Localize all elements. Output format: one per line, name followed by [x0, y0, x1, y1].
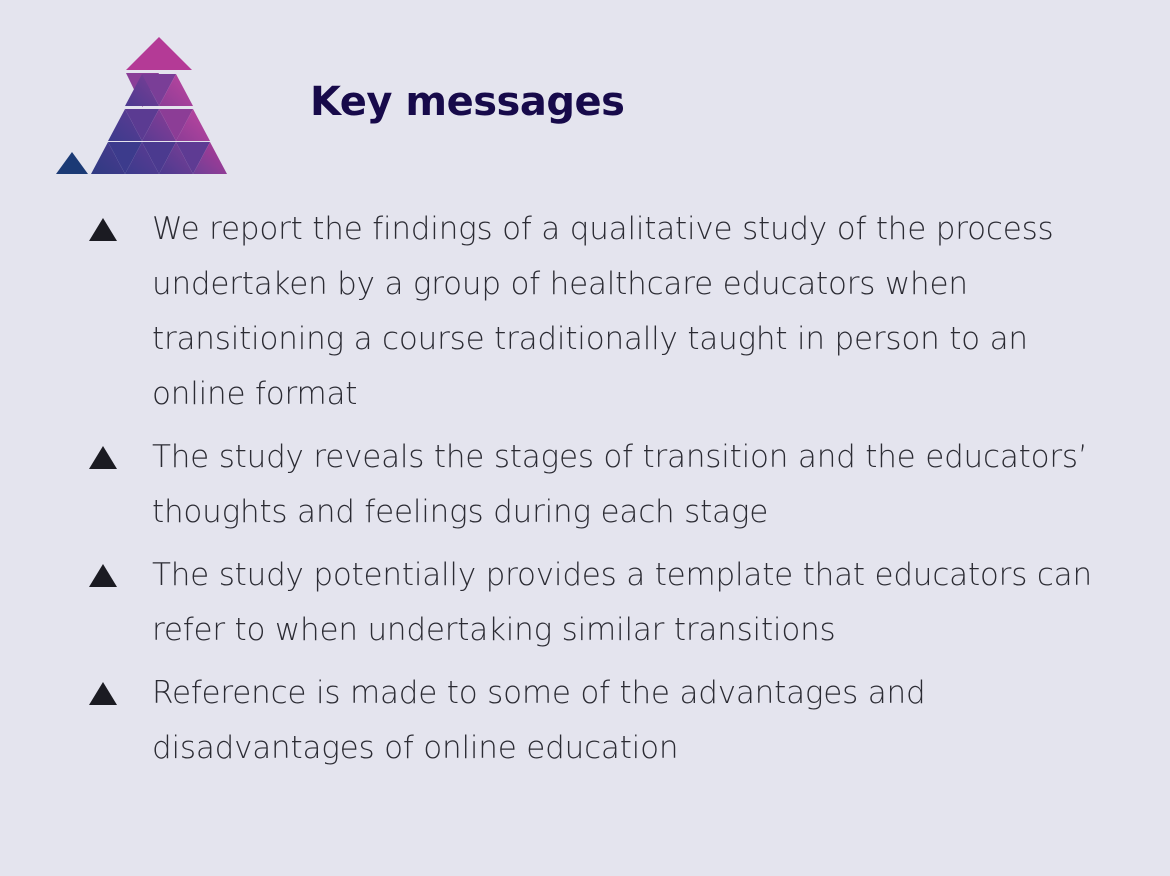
list-item-text: The study potentially provides a templat…	[152, 548, 1127, 658]
list-item-text: Reference is made to some of the advanta…	[152, 666, 1127, 776]
list-item: Reference is made to some of the advanta…	[88, 666, 1138, 776]
list-item: We report the findings of a qualitative …	[88, 202, 1138, 422]
triangle-up-icon	[88, 430, 152, 470]
list-item: The study reveals the stages of transiti…	[88, 430, 1138, 540]
list-item-text: We report the findings of a qualitative …	[152, 202, 1127, 422]
key-messages-list: We report the findings of a qualitative …	[88, 202, 1138, 784]
page-title: Key messages	[310, 80, 624, 124]
list-item-text: The study reveals the stages of transiti…	[152, 430, 1127, 540]
slide-header: Key messages	[0, 0, 1170, 195]
triangle-up-icon	[88, 202, 152, 242]
triangle-mosaic-logo	[52, 34, 267, 176]
key-messages-slide: Key messages We report the findings of a…	[0, 0, 1170, 876]
triangle-up-icon	[88, 666, 152, 706]
triangle-up-icon	[88, 548, 152, 588]
list-item: The study potentially provides a templat…	[88, 548, 1138, 658]
